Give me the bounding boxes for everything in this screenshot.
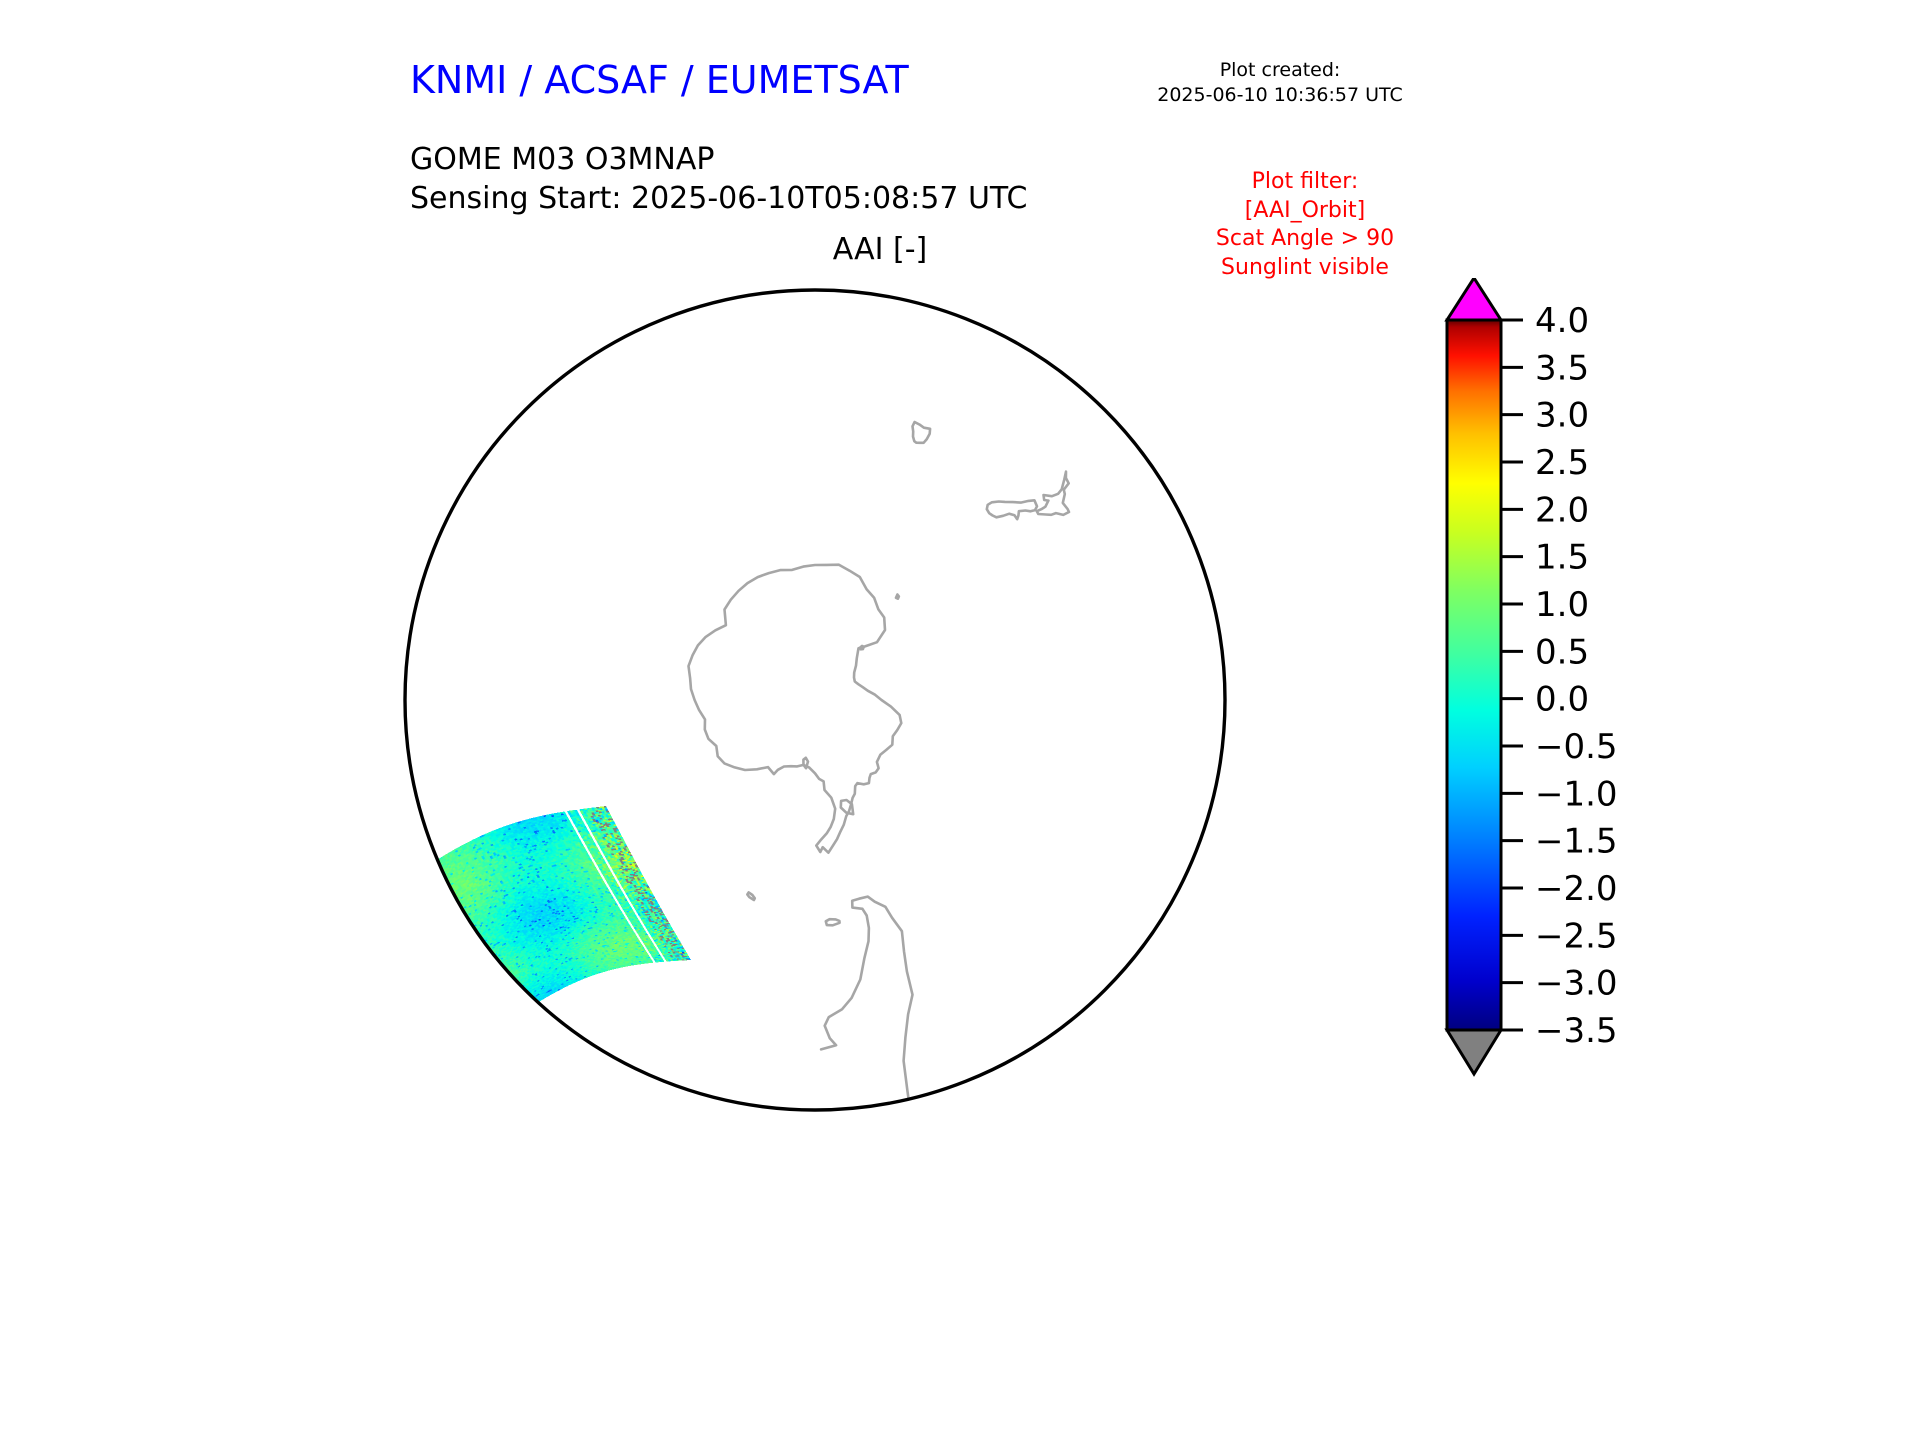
swath-pixel [504, 990, 507, 992]
swath-pixel [460, 933, 463, 936]
swath-pixel [509, 1000, 512, 1002]
swath-pixel [459, 911, 462, 914]
swath-pixel [489, 965, 492, 967]
swath-pixel [440, 883, 443, 886]
swath-pixel [452, 925, 455, 928]
swath-pixel [464, 942, 467, 945]
swath-pixel [517, 1013, 520, 1015]
swath-pixel [435, 880, 438, 883]
swath-pixel [448, 920, 451, 923]
swath-pixel [440, 909, 443, 912]
swath-pixel [523, 994, 526, 996]
swath-pixel [524, 1002, 527, 1004]
swath-pixel [520, 993, 523, 995]
swath-pixel [524, 1001, 527, 1003]
swath-pixel [444, 893, 447, 896]
swath-pixel [431, 870, 434, 873]
swath-pixel [490, 980, 493, 982]
swath-pixel [528, 999, 531, 1001]
swath-pixel [457, 925, 460, 928]
plot-filter-block: Plot filter: [AAI_Orbit] Scat Angle > 90… [1160, 168, 1450, 282]
swath-pixel [428, 895, 431, 898]
swath-pixel [466, 933, 469, 936]
swath-pixel [445, 904, 448, 907]
swath-pixel [425, 883, 428, 886]
swath-pixel [525, 1002, 528, 1004]
swath-pixel [442, 908, 445, 911]
swath-pixel [472, 938, 475, 941]
swath-pixel [421, 877, 424, 880]
swath-pixel [491, 967, 494, 969]
swath-pixel [488, 959, 491, 961]
swath-pixel [451, 920, 454, 923]
swath-pixel [518, 997, 521, 999]
product-title: GOME M03 O3MNAP [410, 140, 1027, 179]
swath-pixel [520, 990, 523, 992]
swath-pixel [499, 970, 502, 972]
swath-pixel [506, 986, 509, 988]
swath-pixel [516, 1011, 519, 1013]
swath-pixel [499, 966, 502, 968]
swath-pixel [429, 896, 432, 899]
swath-pixel [494, 982, 497, 984]
swath-pixel [492, 979, 495, 981]
swath-pixel [429, 863, 432, 866]
swath-pixel [441, 885, 444, 888]
swath-pixel [477, 959, 480, 961]
swath-pixel [457, 920, 460, 923]
swath-pixel [461, 918, 464, 921]
swath-pixel [510, 981, 513, 983]
swath-pixel [447, 923, 450, 926]
swath-pixel [492, 961, 495, 963]
swath-pixel [501, 970, 504, 972]
swath-pixel [509, 983, 512, 985]
swath-pixel [473, 936, 476, 938]
swath-pixel [497, 982, 500, 984]
swath-pixel [419, 874, 422, 877]
swath-pixel [438, 893, 441, 896]
swath-pixel [503, 986, 506, 988]
swath-pixel [508, 988, 511, 990]
swath-pixel [462, 944, 465, 947]
swath-pixel [467, 934, 470, 937]
swath-pixel [528, 1003, 531, 1005]
swath-pixel [438, 872, 441, 875]
swath-pixel [498, 983, 501, 985]
swath-pixel [512, 983, 515, 985]
swath-pixel [518, 994, 521, 996]
swath-pixel [516, 988, 519, 990]
swath-pixel [495, 964, 498, 966]
swath-pixel [426, 888, 429, 891]
swath-pixel [424, 889, 427, 892]
swath-pixel [480, 945, 483, 947]
swath-pixel [448, 904, 451, 907]
swath-pixel [522, 992, 525, 994]
swath-pixel [513, 1008, 516, 1010]
swath-pixel [504, 980, 507, 982]
swath-pixel [430, 890, 433, 893]
swath-pixel [464, 923, 467, 926]
swath-pixel [441, 914, 444, 917]
swath-pixel [425, 878, 428, 881]
swath-pixel [519, 991, 522, 993]
swath-pixel [457, 937, 460, 940]
swath-pixel [524, 1007, 527, 1009]
swath-pixel [469, 949, 472, 951]
swath-pixel [494, 979, 497, 981]
swath-pixel [458, 910, 461, 913]
swath-pixel [492, 972, 495, 974]
swath-pixel [466, 938, 469, 941]
swath-pixel [519, 995, 522, 997]
swath-pixel [523, 1000, 526, 1002]
swath-pixel [480, 961, 483, 963]
swath-pixel [517, 999, 520, 1001]
swath-pixel [436, 886, 439, 889]
swath-pixel [490, 969, 493, 971]
swath-pixel [434, 879, 437, 882]
swath-pixel [464, 947, 467, 950]
swath-pixel [471, 937, 474, 939]
swath-pixel [476, 947, 479, 949]
swath-pixel [470, 931, 473, 934]
swath-pixel [509, 987, 512, 989]
swath-pixel [480, 956, 483, 958]
swath-pixel [499, 985, 502, 987]
swath-pixel [437, 891, 440, 894]
swath-pixel [504, 984, 507, 986]
swath-pixel [419, 870, 422, 873]
swath-pixel [447, 893, 450, 896]
swath-pixel [456, 911, 459, 914]
swath-pixel [475, 945, 478, 947]
swath-pixel [427, 869, 430, 872]
swath-pixel [451, 900, 454, 903]
swath-pixel [469, 953, 472, 955]
swath-pixel [445, 908, 448, 911]
swath-pixel [464, 934, 467, 937]
swath-pixel [448, 896, 451, 899]
swath-pixel [441, 902, 444, 905]
swath-pixel [428, 891, 431, 894]
swath-pixel [458, 927, 461, 930]
swath-pixel [525, 996, 528, 998]
swath-pixel [501, 969, 504, 971]
swath-pixel [446, 917, 449, 920]
swath-pixel [489, 976, 492, 978]
swath-pixel [517, 989, 520, 991]
swath-pixel [436, 904, 439, 907]
swath-pixel [439, 886, 442, 889]
swath-pixel [462, 943, 465, 945]
swath-pixel [443, 905, 446, 908]
swath-pixel [472, 945, 475, 948]
swath-pixel [441, 889, 444, 892]
swath-pixel [511, 999, 514, 1001]
swath-pixel [442, 894, 445, 897]
swath-pixel [429, 884, 432, 887]
swath-pixel [491, 960, 494, 962]
swath-pixel [515, 987, 518, 989]
swath-pixel [444, 915, 447, 918]
swath-pixel [418, 873, 421, 876]
swath-pixel [442, 890, 445, 893]
title-block: GOME M03 O3MNAP Sensing Start: 2025-06-1… [410, 140, 1027, 218]
swath-pixel [515, 993, 518, 995]
swath-pixel [423, 867, 426, 870]
swath-pixel [501, 979, 504, 981]
swath-pixel [430, 865, 433, 868]
swath-pixel [516, 994, 519, 996]
swath-pixel [470, 955, 473, 957]
swath-pixel [423, 884, 426, 887]
swath-pixel [483, 952, 486, 954]
swath-pixel [485, 967, 488, 969]
swath-pixel [425, 870, 428, 873]
swath-pixel [468, 932, 471, 935]
swath-pixel [459, 932, 462, 935]
swath-pixel [439, 874, 442, 877]
swath-pixel [458, 938, 461, 941]
swath-pixel [442, 882, 445, 885]
swath-pixel [521, 998, 524, 1000]
swath-pixel [449, 901, 452, 904]
swath-pixel [503, 979, 506, 981]
swath-pixel [521, 1011, 524, 1013]
swath-pixel [489, 972, 492, 974]
swath-pixel [435, 889, 438, 892]
swath-pixel [514, 999, 517, 1001]
swath-pixel [511, 1003, 514, 1005]
swath-pixel [519, 988, 522, 990]
swath-pixel [486, 975, 489, 977]
swath-pixel [479, 955, 482, 957]
swath-pixel [485, 963, 488, 965]
swath-pixel [468, 941, 471, 943]
swath-pixel [456, 928, 459, 931]
swath-pixel [522, 996, 525, 998]
swath-pixel [475, 942, 478, 944]
swath-pixel [478, 961, 481, 963]
swath-pixel [510, 1005, 513, 1007]
swath-pixel [457, 929, 460, 932]
swath-pixel [467, 939, 470, 941]
swath-pixel [434, 871, 437, 874]
swath-pixel [528, 1006, 531, 1008]
swath-pixel [445, 912, 448, 915]
swath-pixel [524, 1005, 527, 1007]
swath-pixel [493, 967, 496, 969]
swath-pixel [443, 913, 446, 916]
swath-pixel [469, 929, 472, 932]
swath-pixel [502, 974, 505, 976]
swath-pixel [523, 1004, 526, 1006]
swath-pixel [497, 975, 500, 977]
swath-pixel [462, 928, 465, 931]
swath-pixel [447, 903, 450, 906]
swath-pixel [468, 937, 471, 940]
swath-pixel [502, 987, 505, 989]
swath-pixel [436, 908, 439, 911]
swath-pixel [484, 962, 487, 964]
swath-pixel [509, 980, 512, 982]
swath-pixel [426, 876, 429, 879]
swath-pixel [438, 880, 441, 883]
swath-pixel [515, 1000, 518, 1002]
swath-pixel [449, 917, 452, 920]
variable-title: AAI [-] [600, 232, 1160, 267]
swath-pixel [423, 871, 426, 874]
swath-pixel [480, 964, 483, 966]
swath-pixel [521, 997, 524, 999]
swath-pixel [440, 887, 443, 890]
swath-pixel [458, 914, 461, 917]
swath-pixel [485, 970, 488, 972]
swath-pixel [465, 936, 468, 939]
swath-pixel [468, 948, 471, 950]
swath-pixel [519, 1005, 522, 1007]
swath-pixel [453, 911, 456, 914]
swath-pixel [450, 915, 453, 918]
swath-pixel [519, 999, 522, 1001]
swath-pixel [450, 923, 453, 926]
swath-pixel [447, 915, 450, 918]
swath-pixel [439, 904, 442, 907]
swath-pixel [487, 976, 490, 978]
swath-pixel [454, 908, 457, 911]
swath-pixel [431, 862, 434, 865]
swath-pixel [494, 974, 497, 976]
swath-pixel [503, 989, 506, 991]
swath-pixel [477, 952, 480, 954]
swath-pixel [509, 996, 512, 998]
swath-pixel [520, 1006, 523, 1008]
swath-pixel [445, 916, 448, 919]
swath-pixel [457, 908, 460, 911]
swath-pixel [517, 992, 520, 994]
swath-pixel [476, 951, 479, 953]
swath-pixel [448, 890, 451, 893]
swath-pixel [472, 957, 475, 959]
swath-pixel [436, 878, 439, 881]
swath-pixel [511, 989, 514, 991]
swath-pixel [473, 947, 476, 950]
swath-pixel [484, 969, 487, 971]
swath-pixel [431, 895, 434, 898]
swath-pixel [498, 973, 501, 975]
swath-pixel [426, 872, 429, 875]
swath-pixel [518, 1010, 521, 1012]
swath-pixel [428, 874, 431, 877]
swath-pixel [519, 1009, 522, 1011]
swath-pixel [470, 954, 473, 956]
swath-pixel [463, 933, 466, 936]
swath-pixel [482, 970, 485, 972]
swath-pixel [498, 976, 501, 978]
swath-pixel [460, 916, 463, 919]
swath-pixel [442, 900, 445, 903]
swath-pixel [516, 1005, 519, 1007]
swath-pixel [474, 956, 477, 958]
swath-pixel [490, 977, 493, 979]
swath-pixel [506, 989, 509, 991]
swath-pixel [484, 966, 487, 968]
swath-pixel [432, 880, 435, 883]
swath-pixel [450, 927, 453, 930]
swath-pixel [475, 957, 478, 959]
swath-pixel [479, 944, 482, 947]
swath-pixel [480, 952, 483, 954]
swath-pixel [501, 980, 504, 982]
swath-pixel [499, 971, 502, 973]
swath-pixel [427, 873, 430, 876]
swath-pixel [499, 991, 502, 993]
swath-pixel [500, 967, 503, 969]
swath-pixel [453, 928, 456, 931]
swath-pixel [507, 994, 510, 996]
swath-pixel [514, 1009, 517, 1011]
swath-pixel [453, 919, 456, 922]
swath-pixel [494, 968, 497, 970]
swath-pixel [482, 951, 485, 953]
swath-pixel [456, 932, 459, 935]
swath-pixel [425, 887, 428, 890]
swath-pixel [513, 988, 516, 990]
swath-pixel [521, 1005, 524, 1007]
swath-pixel [442, 912, 445, 915]
swath-pixel [496, 970, 499, 972]
swath-pixel [476, 955, 479, 957]
swath-pixel [447, 889, 450, 892]
swath-pixel [423, 888, 426, 891]
swath-pixel [449, 909, 452, 912]
swath-pixel [505, 995, 508, 997]
swath-pixel [455, 917, 458, 920]
swath-pixel [484, 958, 487, 960]
swath-pixel [465, 948, 468, 951]
swath-pixel [470, 939, 473, 942]
swath-pixel [486, 964, 489, 966]
swath-pixel [476, 963, 479, 965]
swath-pixel [512, 994, 515, 996]
swath-pixel [507, 997, 510, 999]
swath-pixel [414, 875, 417, 878]
swath-pixel [502, 984, 505, 986]
swath-pixel [528, 1002, 531, 1004]
swath-pixel [527, 1001, 530, 1003]
swath-pixel [488, 970, 491, 972]
swath-pixel [438, 901, 441, 904]
swath-pixel [429, 880, 432, 883]
swath-pixel [467, 950, 470, 953]
swath-pixel [433, 898, 436, 901]
swath-pixel [452, 917, 455, 920]
swath-pixel [503, 975, 506, 977]
swath-pixel [450, 911, 453, 914]
swath-pixel [446, 896, 449, 899]
swath-pixel [521, 1008, 524, 1010]
swath-pixel [507, 981, 510, 983]
swath-pixel [507, 977, 510, 979]
swath-pixel [482, 963, 485, 965]
swath-pixel [475, 938, 478, 941]
swath-pixel [453, 903, 456, 906]
swath-pixel [515, 1007, 518, 1009]
swath-pixel [483, 964, 486, 966]
swath-pixel [435, 876, 438, 879]
